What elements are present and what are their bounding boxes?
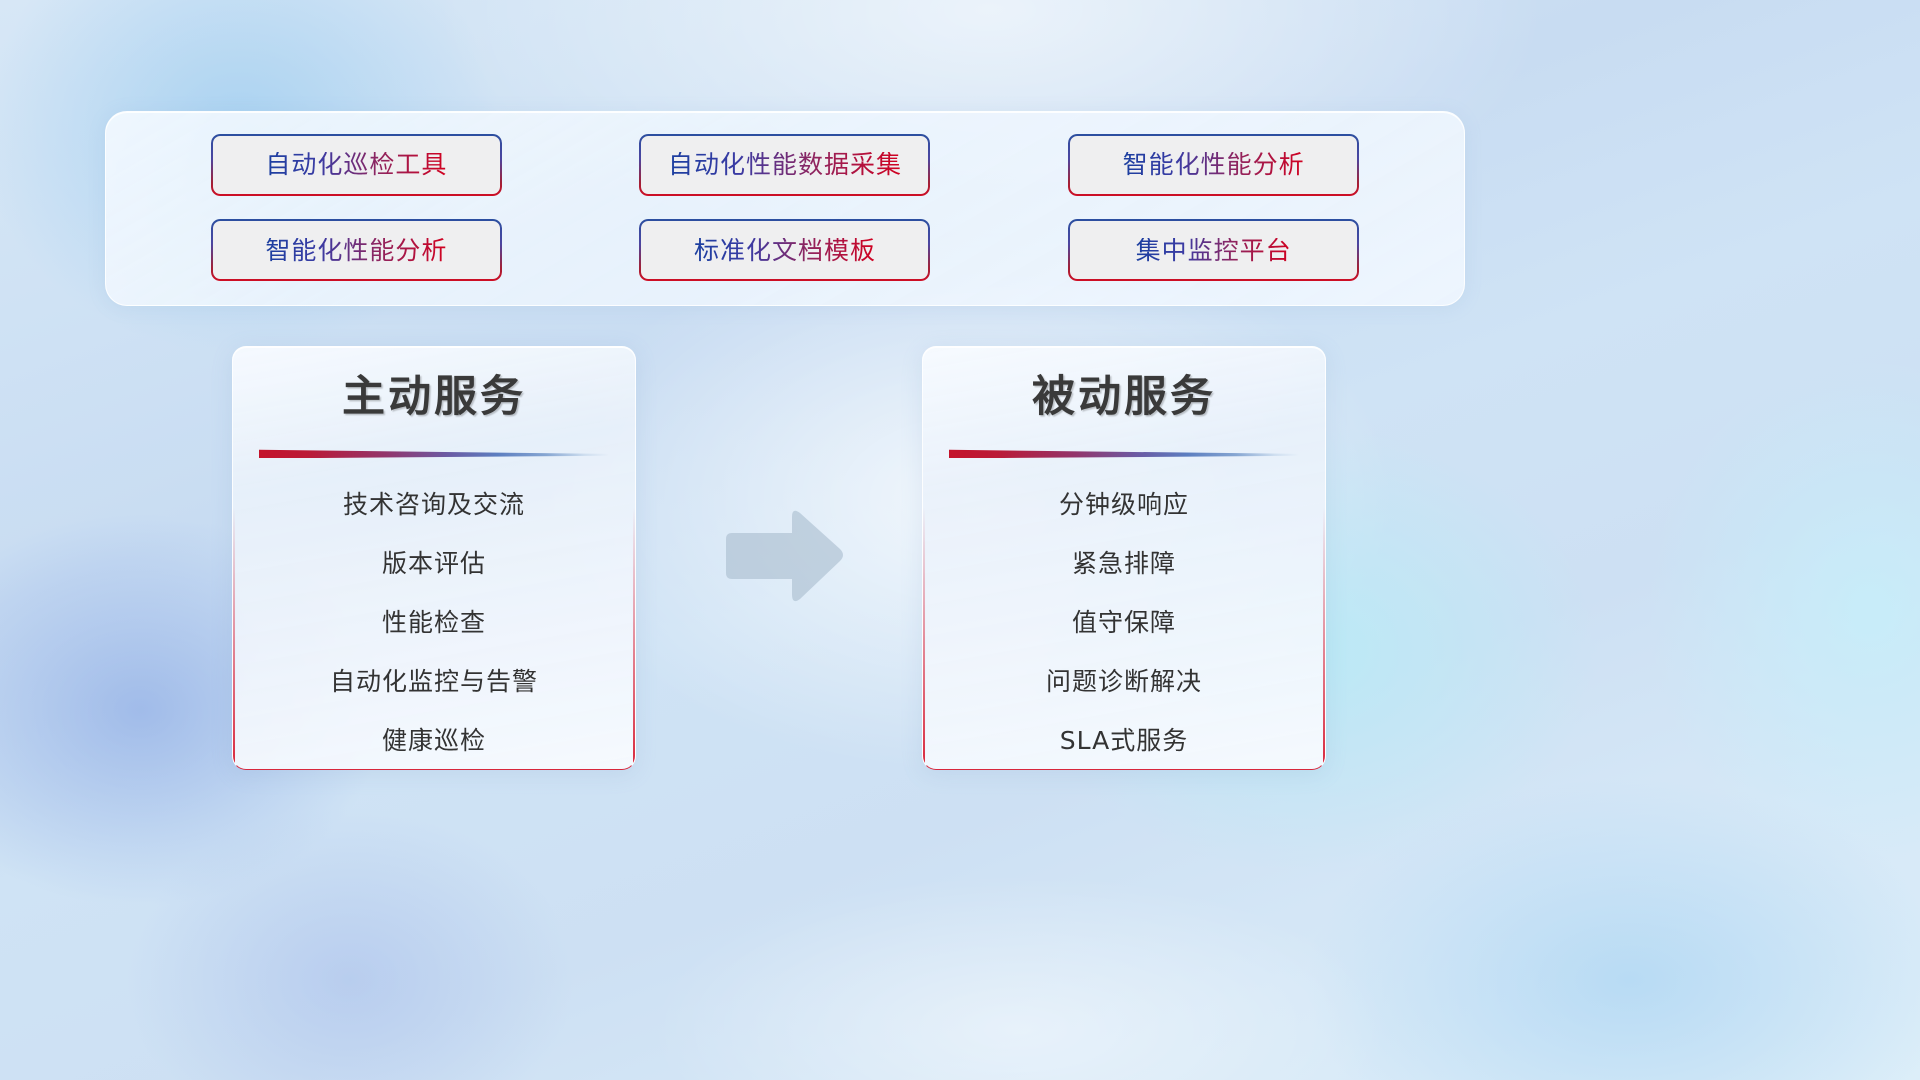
service-list-active: 技术咨询及交流 版本评估 性能检查 自动化监控与告警 健康巡检 — [233, 492, 635, 753]
capability-pill-1[interactable]: 自动化巡检工具 — [211, 134, 502, 196]
slide-canvas: 自动化巡检工具 自动化性能数据采集 智能化性能分析 智能化性能分析 标准化文档模… — [0, 0, 1920, 1080]
capability-pill-label: 自动化巡检工具 — [265, 152, 447, 177]
capability-pill-2[interactable]: 自动化性能数据采集 — [639, 134, 930, 196]
list-item: 版本评估 — [233, 551, 635, 576]
list-item: SLA式服务 — [923, 728, 1325, 753]
capability-pill-label: 自动化性能数据采集 — [668, 152, 902, 177]
list-item: 分钟级响应 — [923, 492, 1325, 517]
list-item: 性能检查 — [233, 610, 635, 635]
card-divider-passive — [949, 446, 1299, 458]
background-blob-right-edge — [1560, 260, 1920, 960]
capability-pill-label: 智能化性能分析 — [265, 238, 447, 263]
list-item: 自动化监控与告警 — [233, 669, 635, 694]
list-item: 问题诊断解决 — [923, 669, 1325, 694]
capability-pill-3[interactable]: 智能化性能分析 — [1068, 134, 1359, 196]
capability-pill-label: 智能化性能分析 — [1123, 152, 1305, 177]
capability-pill-5[interactable]: 标准化文档模板 — [639, 219, 930, 281]
list-item: 健康巡检 — [233, 728, 635, 753]
service-list-passive: 分钟级响应 紧急排障 值守保障 问题诊断解决 SLA式服务 — [923, 492, 1325, 753]
list-item: 值守保障 — [923, 610, 1325, 635]
capability-pill-6[interactable]: 集中监控平台 — [1068, 219, 1359, 281]
card-title-passive: 被动服务 — [923, 373, 1325, 422]
capabilities-panel: 自动化巡检工具 自动化性能数据采集 智能化性能分析 智能化性能分析 标准化文档模… — [105, 111, 1465, 306]
capability-pill-label: 集中监控平台 — [1136, 238, 1292, 263]
card-title-active: 主动服务 — [233, 373, 635, 422]
capability-pill-4[interactable]: 智能化性能分析 — [211, 219, 502, 281]
divider-wedge — [949, 446, 1299, 458]
service-card-active: 主动服务 技术咨询及交流 版本评估 性能检查 自动化监控与告警 健康巡检 — [232, 346, 636, 770]
list-item: 技术咨询及交流 — [233, 492, 635, 517]
list-item: 紧急排障 — [923, 551, 1325, 576]
background-blob-lavender-bottom-left — [40, 740, 660, 1080]
divider-wedge — [259, 446, 609, 458]
capability-pill-label: 标准化文档模板 — [694, 238, 876, 263]
arrow-right-icon — [718, 505, 846, 607]
service-card-passive: 被动服务 分钟级响应 紧急排障 值守保障 问题诊断解决 SLA式服务 — [922, 346, 1326, 770]
card-divider-active — [259, 446, 609, 458]
background-blob-bottom-center — [520, 820, 1520, 1080]
